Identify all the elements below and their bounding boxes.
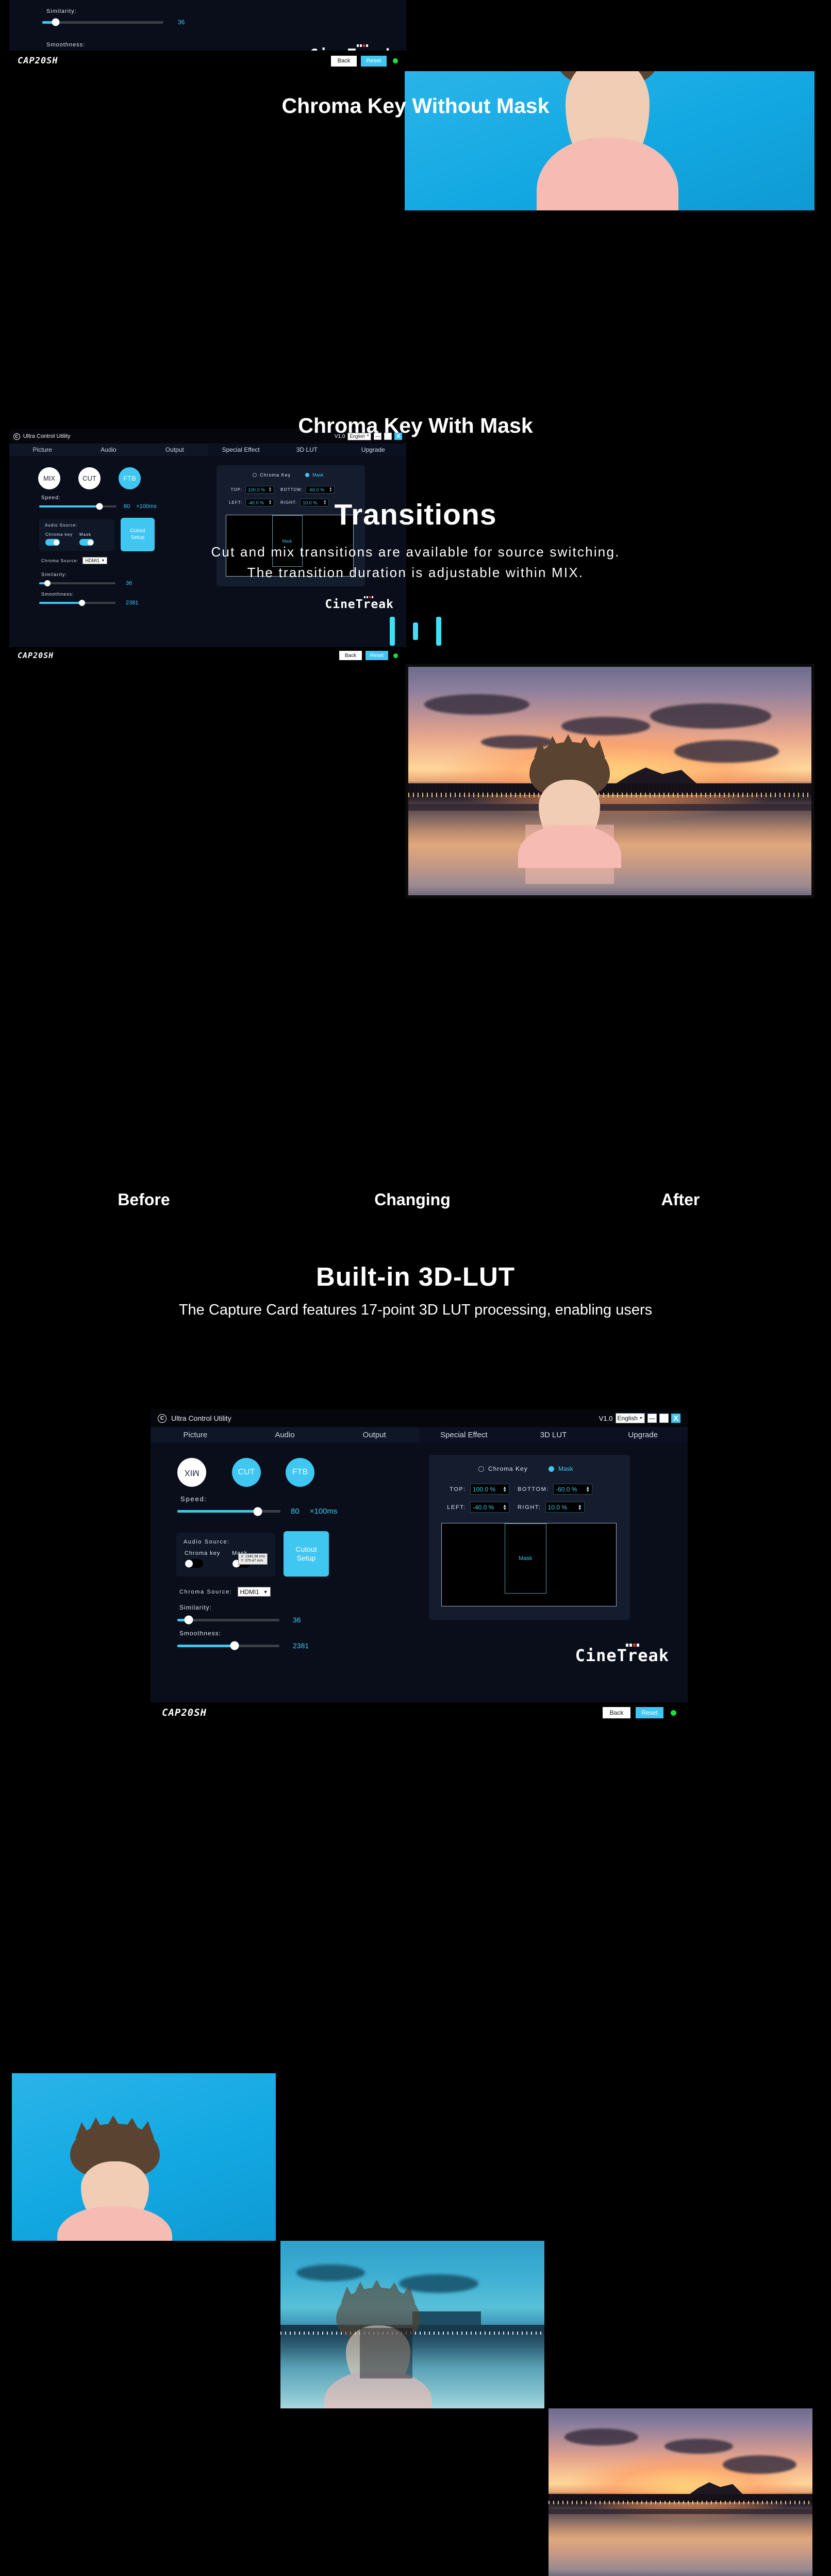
bottom-spinner-icon-3[interactable]: ▲▼ bbox=[586, 1486, 590, 1492]
brand-name-3: CineTreak bbox=[575, 1647, 669, 1664]
mode-mask-label-2: Mask bbox=[312, 472, 324, 478]
compare-image-before bbox=[12, 2073, 276, 2241]
reset-button-3[interactable]: Reset bbox=[636, 1707, 663, 1718]
transitions-heading: Transitions bbox=[0, 498, 831, 532]
chroma-source-select-3[interactable]: HDMI1 ▼ bbox=[238, 1587, 271, 1597]
tab-3d-lut-2[interactable]: 3D LUT bbox=[274, 444, 340, 456]
bottom-label-2: BOTTOM: bbox=[280, 487, 303, 492]
chevron-down-icon-3: ▼ bbox=[639, 1416, 643, 1420]
smoothness-label-1: Smoothness: bbox=[46, 42, 85, 48]
bottom-value-3: -60.0 % bbox=[556, 1486, 577, 1493]
audio-source-card-3: Audio Source: Chroma key Mask X: 1940.38… bbox=[176, 1533, 275, 1577]
left-spinner-icon-3[interactable]: ▲▼ bbox=[503, 1504, 507, 1510]
cutout-setup-button-3[interactable]: Cutout Setup bbox=[284, 1531, 329, 1577]
compare-label-before: Before bbox=[12, 1190, 276, 1209]
bottom-value-2: -60.0 % bbox=[308, 487, 324, 493]
language-select-3[interactable]: English ▼ bbox=[616, 1413, 645, 1423]
tab-special-effect-2[interactable]: Special Effect bbox=[208, 444, 274, 456]
reset-button-1[interactable]: Reset bbox=[361, 56, 387, 67]
radio-chroma-key-icon-2 bbox=[253, 473, 257, 477]
left-field-3[interactable]: -40.0 % ▲▼ bbox=[470, 1502, 509, 1513]
radio-chroma-key-icon-3 bbox=[478, 1466, 484, 1472]
mix-button-3[interactable]: MIX bbox=[177, 1458, 206, 1487]
back-button-1[interactable]: Back bbox=[331, 56, 357, 67]
mask-preview-label-3: Mask bbox=[519, 1555, 532, 1562]
similarity-slider-1[interactable]: 36 bbox=[42, 19, 212, 26]
right-spinner-icon-3[interactable]: ▲▼ bbox=[578, 1504, 582, 1510]
ftb-button-2[interactable]: FTB bbox=[119, 467, 141, 489]
radio-mask-icon-2 bbox=[305, 473, 309, 477]
right-value-3: 10.0 % bbox=[548, 1504, 567, 1511]
chroma-source-row-3[interactable]: Chroma Source: HDMI1 ▼ bbox=[179, 1587, 271, 1597]
similarity-value-2: 36 bbox=[126, 580, 132, 586]
minimize-button-3[interactable]: — bbox=[647, 1414, 657, 1423]
top-spinner-icon-2[interactable]: ▲▼ bbox=[269, 487, 272, 491]
coordinate-tooltip: X: 1940.38 mm Y: 375.47 mm bbox=[238, 1553, 268, 1565]
brand-logo-2: CineTreak bbox=[325, 596, 394, 611]
preview-image-top bbox=[405, 71, 815, 210]
special-effect-panel-3: Chroma Key Mask TOP: 100.0 % ▲▼ BOTTOM: … bbox=[429, 1455, 630, 1620]
model-name-1: CAP20SH bbox=[18, 56, 58, 66]
lut-line1: The Capture Card features 17-point 3D LU… bbox=[0, 1302, 831, 1319]
cut-button-3[interactable]: CUT bbox=[232, 1458, 261, 1487]
model-name-3: CAP20SH bbox=[162, 1707, 207, 1718]
smoothness-label-2: Smoothness: bbox=[41, 592, 74, 597]
top-label-3: TOP: bbox=[439, 1486, 466, 1492]
tab-audio-3[interactable]: Audio bbox=[240, 1427, 330, 1442]
mask-preview-label-2: Mask bbox=[282, 539, 292, 544]
mode-mask-label-3: Mask bbox=[558, 1465, 573, 1472]
audio-source-label-3: Audio Source: bbox=[184, 1539, 230, 1545]
similarity-value-3: 36 bbox=[293, 1616, 301, 1624]
model-name-2: CAP20SH bbox=[18, 651, 54, 660]
smoothness-value-3: 2381 bbox=[293, 1642, 309, 1650]
compare-label-changing: Changing bbox=[280, 1190, 544, 1209]
lut-heading: Built-in 3D-LUT bbox=[0, 1261, 831, 1292]
audio-toggle-chroma-key-label-2: Chroma key bbox=[45, 532, 73, 537]
chroma-source-label-3: Chroma Source: bbox=[179, 1589, 232, 1595]
top-spinner-icon-3[interactable]: ▲▼ bbox=[503, 1486, 507, 1492]
top-field-2[interactable]: 100.0 % ▲▼ bbox=[245, 486, 274, 494]
window-footer-3: CAP20SH Back Reset bbox=[151, 1702, 688, 1723]
language-value-3: English bbox=[618, 1415, 638, 1421]
tab-bar-3[interactable]: Picture Audio Output Special Effect 3D L… bbox=[151, 1427, 688, 1442]
mix-button-label-3: MIX bbox=[185, 1468, 199, 1477]
smoothness-slider-3[interactable]: 2381 bbox=[177, 1642, 309, 1650]
mask-region-3[interactable]: Mask bbox=[505, 1523, 546, 1594]
tab-special-effect-3[interactable]: Special Effect bbox=[419, 1427, 509, 1442]
cutout-setup-line2-3: Setup bbox=[295, 1554, 317, 1563]
left-value-3: -40.0 % bbox=[473, 1504, 494, 1511]
maximize-button-3[interactable] bbox=[659, 1414, 669, 1423]
speed-label-3: Speed: bbox=[180, 1495, 207, 1503]
tab-output-2[interactable]: Output bbox=[142, 444, 208, 456]
right-label-3: RIGHT: bbox=[518, 1504, 541, 1511]
cutout-setup-line2-2: Setup bbox=[130, 535, 145, 542]
tab-picture-2[interactable]: Picture bbox=[9, 444, 75, 456]
similarity-slider-2[interactable]: 36 bbox=[39, 580, 132, 586]
chroma-source-value-3: HDMI1 bbox=[240, 1588, 259, 1596]
right-field-3[interactable]: 10.0 % ▲▼ bbox=[545, 1502, 585, 1513]
similarity-label-3: Similarity: bbox=[179, 1604, 212, 1611]
speed-value-3: 80 bbox=[291, 1507, 300, 1516]
close-button-3[interactable]: X bbox=[671, 1414, 680, 1423]
ftb-button-3[interactable]: FTB bbox=[286, 1458, 314, 1487]
status-led-2 bbox=[393, 653, 398, 658]
window-footer-1: CAP20SH Back Reset bbox=[9, 51, 406, 71]
mode-chroma-key-3[interactable]: Chroma Key bbox=[478, 1465, 528, 1472]
status-led-1 bbox=[393, 58, 398, 63]
mode-chroma-key-label-2: Chroma Key bbox=[260, 472, 291, 478]
transitions-line1: Cut and mix transitions are available fo… bbox=[0, 544, 831, 560]
tab-bar-2[interactable]: Picture Audio Output Special Effect 3D L… bbox=[9, 444, 406, 456]
chevron-down-icon-chroma-3: ▼ bbox=[263, 1589, 268, 1595]
mix-button-2[interactable]: MIX bbox=[38, 467, 60, 489]
control-utility-window-1[interactable]: Similarity: 36 Smoothness: 2381 CineTrea… bbox=[9, 0, 406, 71]
tab-3d-lut-3[interactable]: 3D LUT bbox=[509, 1427, 599, 1442]
mode-mask-2[interactable]: Mask bbox=[305, 472, 324, 478]
film-strip-icon-3 bbox=[626, 1644, 639, 1647]
top-label-2: TOP: bbox=[224, 487, 242, 492]
mode-chroma-key-label-3: Chroma Key bbox=[488, 1465, 528, 1472]
brand-name-2: CineTreak bbox=[325, 599, 394, 611]
audio-toggle-chroma-key-label-3: Chroma key bbox=[185, 1550, 220, 1556]
top-field-3[interactable]: 100.0 % ▲▼ bbox=[470, 1484, 509, 1495]
smoothness-label-3: Smoothness: bbox=[179, 1630, 221, 1637]
back-button-3[interactable]: Back bbox=[603, 1707, 630, 1718]
tab-upgrade-3[interactable]: Upgrade bbox=[598, 1427, 688, 1442]
radio-mask-icon-3 bbox=[549, 1466, 554, 1472]
control-utility-window-3[interactable]: C Ultra Control Utility V1.0 English ▼ —… bbox=[151, 1409, 688, 1723]
similarity-label-1: Similarity: bbox=[46, 8, 77, 14]
smoothness-slider-2[interactable]: 2381 bbox=[39, 600, 138, 606]
left-label-3: LEFT: bbox=[439, 1504, 466, 1511]
tab-picture-3[interactable]: Picture bbox=[151, 1427, 240, 1442]
window-footer-2: CAP20SH Back Reset bbox=[9, 647, 406, 664]
compare-image-after bbox=[549, 2408, 812, 2576]
compare-image-changing bbox=[280, 2241, 544, 2408]
tooltip-line1: X: 1940.38 mm bbox=[241, 1555, 265, 1559]
top-value-2: 100.0 % bbox=[248, 487, 265, 493]
app-version-3: V1.0 bbox=[599, 1415, 613, 1422]
cut-button-2[interactable]: CUT bbox=[78, 467, 101, 489]
bottom-label-3: BOTTOM: bbox=[518, 1486, 549, 1492]
window-titlebar-3: C Ultra Control Utility V1.0 English ▼ —… bbox=[151, 1409, 688, 1427]
similarity-value-1: 36 bbox=[178, 19, 185, 26]
speed-slider-3[interactable]: 80 ×100ms bbox=[177, 1507, 337, 1516]
cutout-setup-line1-3: Cutout bbox=[295, 1545, 317, 1554]
tab-upgrade-2[interactable]: Upgrade bbox=[340, 444, 406, 456]
caption-with-mask: Chroma Key With Mask bbox=[0, 414, 831, 438]
person-graphic bbox=[552, 71, 663, 210]
top-value-3: 100.0 % bbox=[473, 1486, 495, 1493]
person-graphic-before bbox=[70, 2124, 160, 2241]
mask-preview-3[interactable]: Mask bbox=[441, 1523, 617, 1606]
bottom-spinner-icon-2[interactable]: ▲▼ bbox=[329, 487, 332, 491]
transitions-line2: The transition duration is adjustable wi… bbox=[0, 565, 831, 581]
audio-toggle-chroma-key-3[interactable]: Chroma key bbox=[185, 1550, 220, 1570]
compare-label-after: After bbox=[549, 1190, 812, 1209]
mask-window-overlay bbox=[525, 825, 614, 884]
tooltip-line2: Y: 375.47 mm bbox=[241, 1559, 265, 1563]
mode-mask-3[interactable]: Mask bbox=[549, 1465, 573, 1472]
bottom-field-3[interactable]: -60.0 % ▲▼ bbox=[553, 1484, 592, 1495]
app-title-3: Ultra Control Utility bbox=[171, 1414, 231, 1422]
back-button-2[interactable]: Back bbox=[339, 651, 362, 660]
tab-output-3[interactable]: Output bbox=[329, 1427, 419, 1442]
speed-unit-3: ×100ms bbox=[310, 1507, 338, 1516]
reset-button-2[interactable]: Reset bbox=[365, 651, 388, 660]
caption-without-mask: Chroma Key Without Mask bbox=[0, 94, 831, 118]
preview-image-with-mask bbox=[405, 664, 815, 898]
app-logo-icon-3: C bbox=[158, 1414, 167, 1423]
status-led-3 bbox=[671, 1710, 676, 1716]
audio-toggle-mask-label-2: Mask bbox=[79, 532, 94, 537]
similarity-slider-3[interactable]: 36 bbox=[177, 1616, 301, 1624]
bottom-field-2[interactable]: -60.0 % ▲▼ bbox=[306, 486, 335, 494]
smoothness-value-2: 2381 bbox=[126, 600, 138, 606]
brand-logo-3: CineTreak bbox=[575, 1644, 669, 1664]
mode-chroma-key-2[interactable]: Chroma Key bbox=[253, 472, 291, 478]
transition-bars-icon bbox=[390, 615, 441, 648]
tab-audio-2[interactable]: Audio bbox=[75, 444, 141, 456]
